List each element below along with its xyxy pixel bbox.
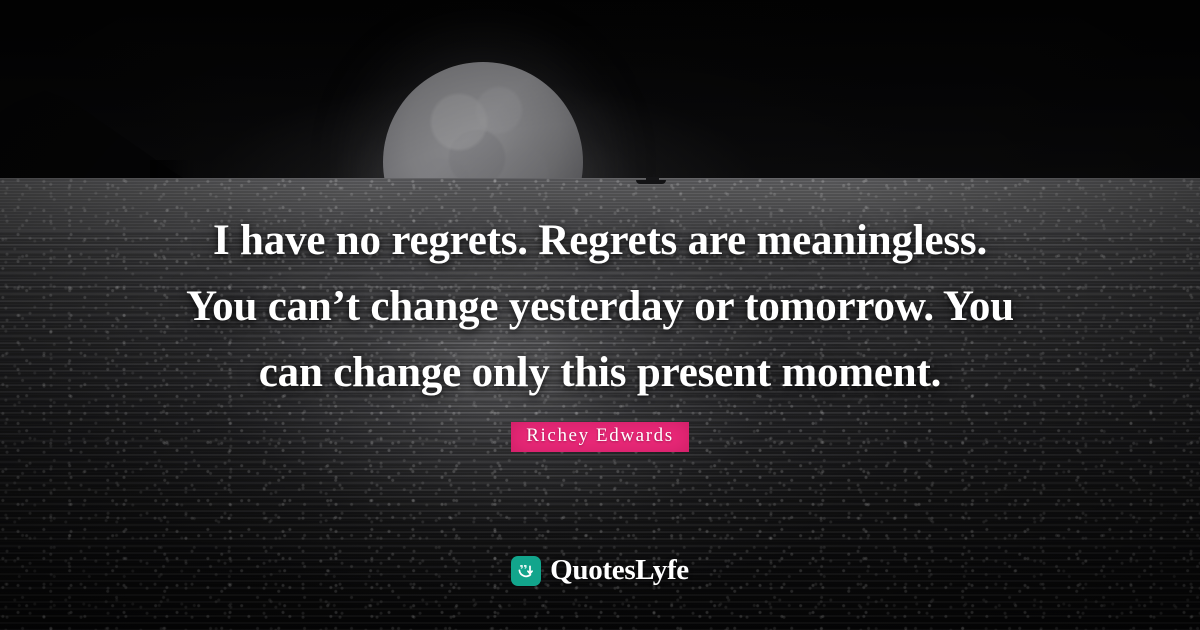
quoteslyfe-wordmark: QuotesLyfe — [550, 554, 689, 587]
author-name-badge: Richey Edwards — [511, 422, 688, 452]
quote-line-1: I have no regrets. Regrets are meaningle… — [100, 208, 1100, 274]
quote-smiley-icon — [511, 556, 541, 586]
quote-line-3: can change only this present moment. — [100, 340, 1100, 406]
quote-text: I have no regrets. Regrets are meaningle… — [100, 208, 1100, 406]
quote-line-2: You canʼt change yesterday or tomorrow. … — [100, 274, 1100, 340]
author-attribution: Richey Edwards — [0, 422, 1200, 452]
quote-card: I have no regrets. Regrets are meaningle… — [0, 0, 1200, 630]
quoteslyfe-logo: QuotesLyfe — [0, 554, 1200, 587]
